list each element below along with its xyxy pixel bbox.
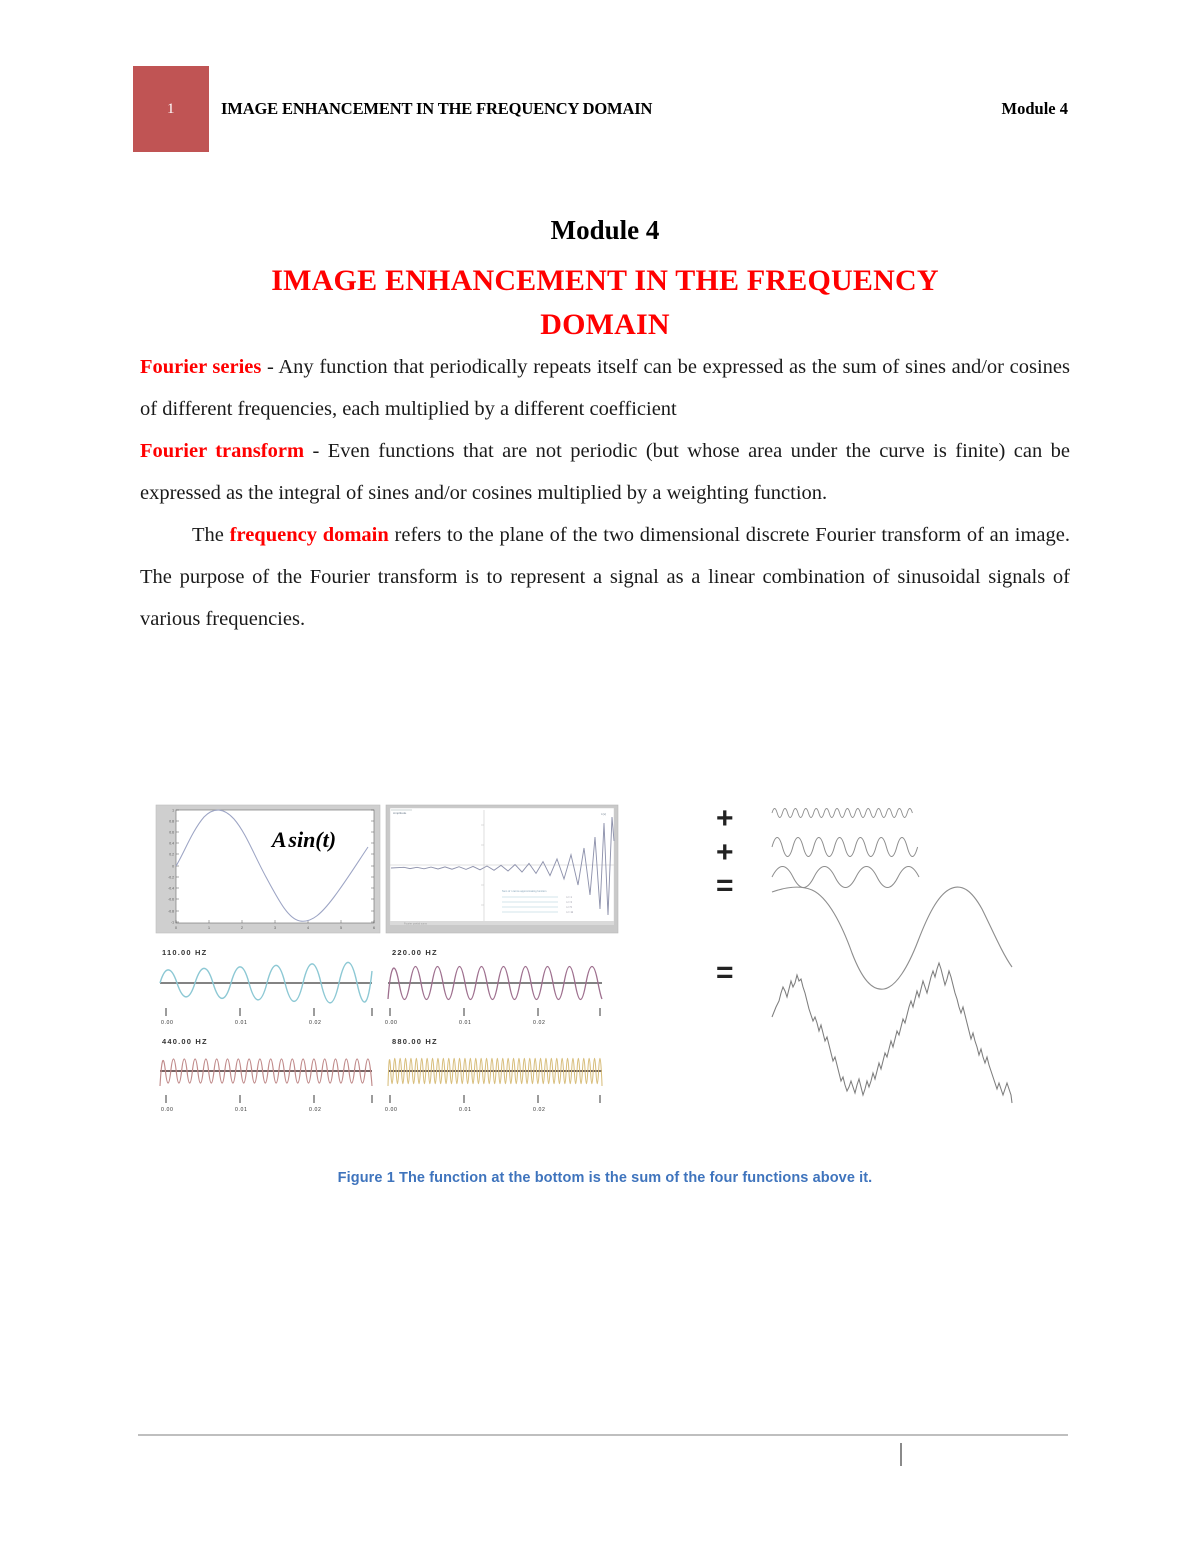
panel-freq-880: 880.00 HZ 0.00 0.01 0.02 — [385, 1037, 602, 1113]
svg-text:1: 1 — [208, 926, 210, 930]
figure-right-panels: + + = + = — [700, 795, 1050, 1125]
svg-text:0.01: 0.01 — [235, 1020, 248, 1026]
svg-text:2: 2 — [241, 926, 243, 930]
svg-text:-0.6: -0.6 — [168, 897, 174, 901]
svg-text:0: 0 — [175, 926, 177, 930]
svg-text:0.01: 0.01 — [459, 1020, 472, 1026]
svg-text:0.01: 0.01 — [459, 1107, 472, 1113]
equals-sign: = — [716, 956, 734, 989]
document-page: 1 IMAGE ENHANCEMENT IN THE FREQUENCY DOM… — [0, 0, 1200, 1553]
page-title-module: Module 4 — [140, 212, 1070, 249]
harmonic-wave-3 — [772, 838, 918, 857]
svg-text:1: 1 — [172, 808, 174, 812]
page-title-main-line1: IMAGE ENHANCEMENT IN THE FREQUENCY — [271, 264, 938, 297]
svg-text:0.02: 0.02 — [309, 1020, 322, 1026]
svg-text:0.4: 0.4 — [169, 841, 174, 845]
keyword-frequency-domain: frequency domain — [230, 524, 389, 546]
svg-text:n = 5: n = 5 — [566, 905, 572, 909]
figure-left-panels: 10.80.6 0.40.20 -0.2-0.4-0.6 -0.8-1 012 — [154, 803, 620, 1123]
paragraph-frequency-domain-lead: The — [192, 524, 230, 546]
svg-text:n = 1: n = 1 — [566, 895, 572, 899]
figure-right-svg: + + = + = — [700, 795, 1050, 1125]
header-document-title: IMAGE ENHANCEMENT IN THE FREQUENCY DOMAI… — [221, 99, 652, 119]
svg-text:3: 3 — [274, 926, 276, 930]
header-module-label: Module 4 — [1002, 99, 1068, 119]
page-number-badge: 1 — [133, 66, 209, 152]
panel-freq-880-wave — [388, 1058, 602, 1086]
paragraph-fourier-transform: Fourier transform - Even functions that … — [140, 430, 1070, 514]
harmonic-wave-2 — [772, 867, 919, 888]
svg-text:-0.8: -0.8 — [168, 909, 174, 913]
svg-text:0.2: 0.2 — [169, 852, 174, 856]
svg-text:n = 3: n = 3 — [566, 900, 572, 904]
panel-oscillation-topright-label: t (s) — [601, 812, 606, 816]
paragraph-fourier-series: Fourier series - Any function that perio… — [140, 346, 1070, 430]
panel-asin-label: A sin(t) — [270, 827, 336, 852]
svg-text:0.00: 0.00 — [385, 1107, 398, 1113]
svg-text:0.00: 0.00 — [161, 1020, 174, 1026]
svg-text:0: 0 — [172, 864, 174, 868]
harmonic-wave-4 — [772, 809, 912, 818]
panel-freq-220-ticklabels: 0.00 0.01 0.02 — [385, 1020, 546, 1026]
paragraph-fourier-series-text: - Any function that periodically repeats… — [140, 356, 1070, 420]
svg-text:-1: -1 — [171, 920, 174, 924]
svg-text:-0.2: -0.2 — [168, 875, 174, 879]
svg-text:0.01: 0.01 — [235, 1107, 248, 1113]
page-title-main-line2: DOMAIN — [540, 308, 670, 341]
svg-text:Sum of n terms approximating f: Sum of n terms approximating function — [502, 889, 547, 893]
plus-sign-1: + — [716, 802, 734, 835]
page-header: 1 IMAGE ENHANCEMENT IN THE FREQUENCY DOM… — [133, 66, 1068, 152]
page-title-main: IMAGE ENHANCEMENT IN THE FREQUENCY DOMAI… — [140, 259, 1070, 346]
panel-oscillation-footer: Fourier partial sums — [404, 921, 428, 925]
svg-text:0.02: 0.02 — [533, 1020, 546, 1026]
panel-freq-110-ticklabels: 0.00 0.01 0.02 — [161, 1020, 322, 1026]
panel-asin-t: 10.80.6 0.40.20 -0.2-0.4-0.6 -0.8-1 012 — [156, 805, 380, 933]
panel-freq-440-label: 440.00 HZ — [162, 1037, 208, 1046]
footer-divider — [138, 1434, 1068, 1436]
panel-oscillation-corner-label: Amplitude — [393, 811, 407, 815]
panel-freq-220: 220.00 HZ 0.00 0.01 0.02 — [385, 948, 602, 1026]
panel-freq-880-label: 880.00 HZ — [392, 1037, 438, 1046]
svg-text:-0.4: -0.4 — [168, 886, 174, 890]
figure-caption: Figure 1 The function at the bottom is t… — [140, 1170, 1070, 1186]
svg-text:0.02: 0.02 — [533, 1107, 546, 1113]
svg-text:4: 4 — [307, 926, 309, 930]
panel-freq-440: 440.00 HZ 0.00 0.01 0.02 — [160, 1037, 372, 1113]
keyword-fourier-series: Fourier series — [140, 356, 261, 378]
svg-text:n = 11: n = 11 — [566, 910, 574, 914]
panel-freq-110: 110.00 HZ 0.00 0.01 0.02 — [160, 948, 372, 1026]
document-body: Module 4 IMAGE ENHANCEMENT IN THE FREQUE… — [140, 212, 1070, 640]
keyword-fourier-transform: Fourier transform — [140, 440, 304, 462]
svg-text:0.8: 0.8 — [169, 819, 174, 823]
svg-text:0.02: 0.02 — [309, 1107, 322, 1113]
panel-oscillation: Amplitude t (s) Sum of n terms approxima… — [386, 805, 618, 933]
panel-freq-110-label: 110.00 HZ — [162, 948, 207, 957]
composite-sum-waveform — [772, 963, 1012, 1103]
panel-freq-440-ticklabels: 0.00 0.01 0.02 — [161, 1107, 322, 1113]
panel-freq-880-ticklabels: 0.00 0.01 0.02 — [385, 1107, 546, 1113]
footer-text-cursor — [900, 1443, 902, 1466]
paragraph-frequency-domain: The frequency domain refers to the plane… — [140, 514, 1070, 640]
plus-sign-2: + — [716, 836, 734, 869]
svg-text:0.00: 0.00 — [161, 1107, 174, 1113]
figure-1: 10.80.6 0.40.20 -0.2-0.4-0.6 -0.8-1 012 — [140, 795, 1070, 1215]
svg-text:5: 5 — [340, 926, 342, 930]
svg-text:0.6: 0.6 — [169, 830, 174, 834]
panel-freq-440-wave — [160, 1059, 372, 1086]
figure-left-svg: 10.80.6 0.40.20 -0.2-0.4-0.6 -0.8-1 012 — [154, 803, 620, 1123]
panel-freq-220-label: 220.00 HZ — [392, 948, 438, 957]
harmonic-wave-1 — [772, 887, 1012, 989]
svg-text:0.00: 0.00 — [385, 1020, 398, 1026]
svg-text:6: 6 — [373, 926, 375, 930]
